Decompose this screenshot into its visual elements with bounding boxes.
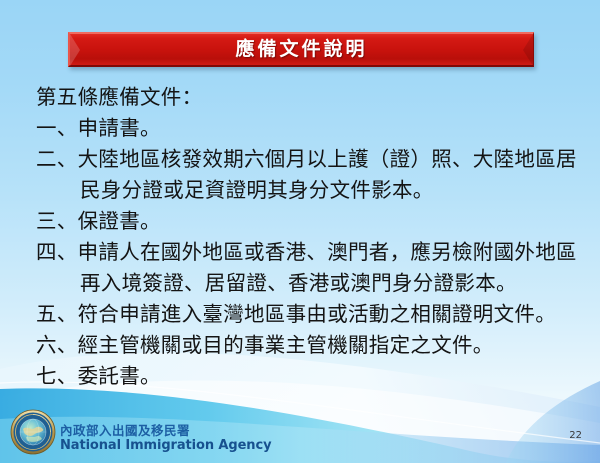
body-line-4-cont: 再入境簽證、居留證、香港或澳門身分證影本。 xyxy=(36,268,576,299)
banner-right-bevel xyxy=(523,34,533,66)
agency-name-zh: 內政部入出國及移民署 xyxy=(60,424,271,438)
banner-left-bevel xyxy=(70,34,80,66)
slide-title-banner: 應備文件說明 xyxy=(68,32,534,67)
body-line-4: 四、申請人在國外地區或香港、澳門者，應另檢附國外地區 xyxy=(36,237,576,268)
body-line-1: 一、申請書。 xyxy=(36,113,576,144)
slide-footer: 內政部入出國及移民署 National Immigration Agency 2… xyxy=(0,401,600,463)
page-number: 22 xyxy=(569,430,582,441)
agency-name-en: National Immigration Agency xyxy=(60,439,271,453)
agency-name-block: 內政部入出國及移民署 National Immigration Agency xyxy=(60,424,271,453)
body-line-6: 六、經主管機關或目的事業主管機關指定之文件。 xyxy=(36,330,576,361)
immigration-agency-emblem-icon xyxy=(10,409,56,455)
presentation-slide: 應備文件說明 第五條應備文件： 一、申請書。 二、大陸地區核發效期六個月以上護（… xyxy=(0,0,600,463)
body-line-2: 二、大陸地區核發效期六個月以上護（證）照、大陸地區居 xyxy=(36,144,576,175)
slide-body: 第五條應備文件： 一、申請書。 二、大陸地區核發效期六個月以上護（證）照、大陸地… xyxy=(36,82,576,392)
slide-title-text: 應備文件說明 xyxy=(235,40,367,59)
body-heading: 第五條應備文件： xyxy=(36,82,576,113)
body-line-7: 七、委託書。 xyxy=(36,361,576,392)
body-line-2-cont: 民身分證或足資證明其身分文件影本。 xyxy=(36,175,576,206)
body-line-5: 五、符合申請進入臺灣地區事由或活動之相關證明文件。 xyxy=(36,299,576,330)
body-line-3: 三、保證書。 xyxy=(36,206,576,237)
